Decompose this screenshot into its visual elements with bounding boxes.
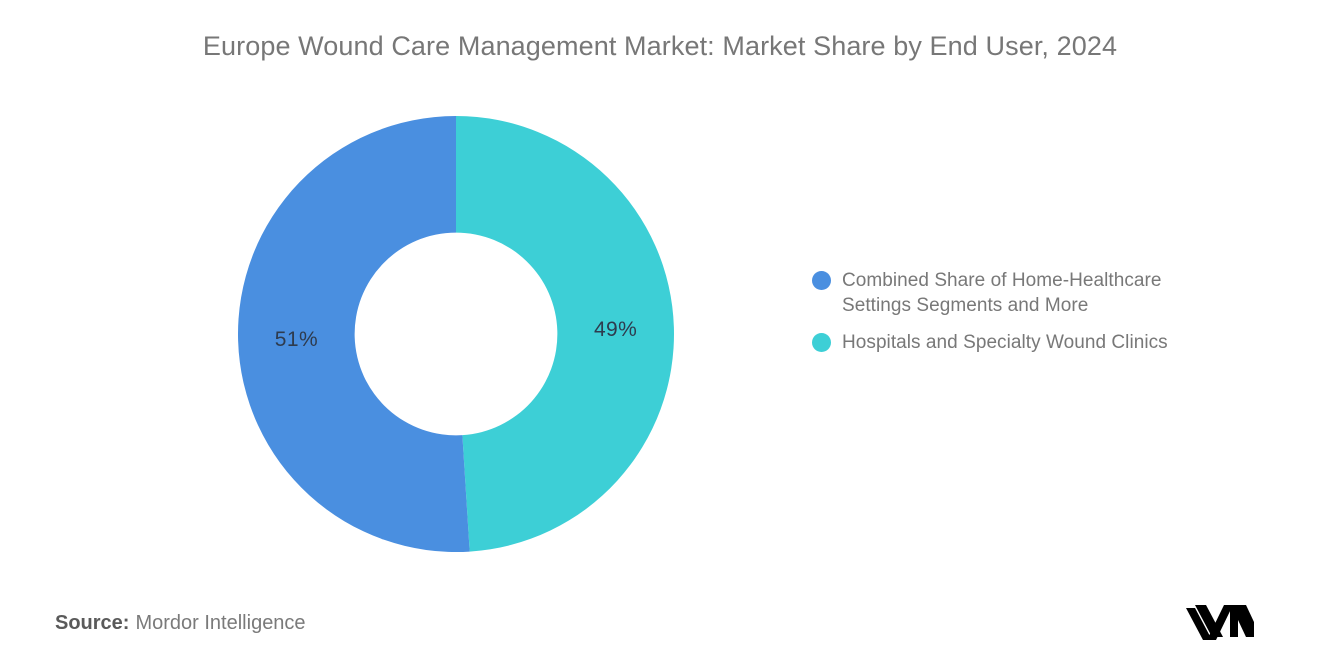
logo-shape-teal-stem <box>1230 605 1238 637</box>
legend-item-combined-share[interactable]: Combined Share of Home-Healthcare Settin… <box>812 268 1242 318</box>
pie-slice-combined-share-of-home-healthcare-settings[interactable] <box>238 116 470 552</box>
pie-slice-label-hospitals: 49% <box>594 318 637 341</box>
donut-chart-svg: 51% 49% <box>238 116 674 552</box>
pie-slice-hospitals-and-specialty-wound-clinics[interactable] <box>456 116 674 552</box>
legend-label-combined-share: Combined Share of Home-Healthcare Settin… <box>842 268 1227 318</box>
legend-swatch-icon-hospitals <box>812 333 831 352</box>
source-caption: Source:Mordor Intelligence <box>55 612 306 635</box>
logo-svg <box>1186 600 1254 640</box>
donut-chart: 51% 49% <box>238 116 674 552</box>
source-label: Source: <box>55 612 129 634</box>
mordor-intelligence-logo-icon <box>1186 600 1254 640</box>
pie-slice-label-combined-share: 51% <box>275 328 318 351</box>
chart-legend: Combined Share of Home-Healthcare Settin… <box>812 268 1242 367</box>
logo-shape-blue-right <box>1238 605 1254 637</box>
chart-page: Europe Wound Care Management Market: Mar… <box>0 0 1320 665</box>
legend-label-hospitals: Hospitals and Specialty Wound Clinics <box>842 330 1168 355</box>
source-value: Mordor Intelligence <box>135 612 305 634</box>
legend-item-hospitals[interactable]: Hospitals and Specialty Wound Clinics <box>812 330 1242 355</box>
legend-swatch-icon-combined-share <box>812 271 831 290</box>
page-title: Europe Wound Care Management Market: Mar… <box>0 31 1320 62</box>
